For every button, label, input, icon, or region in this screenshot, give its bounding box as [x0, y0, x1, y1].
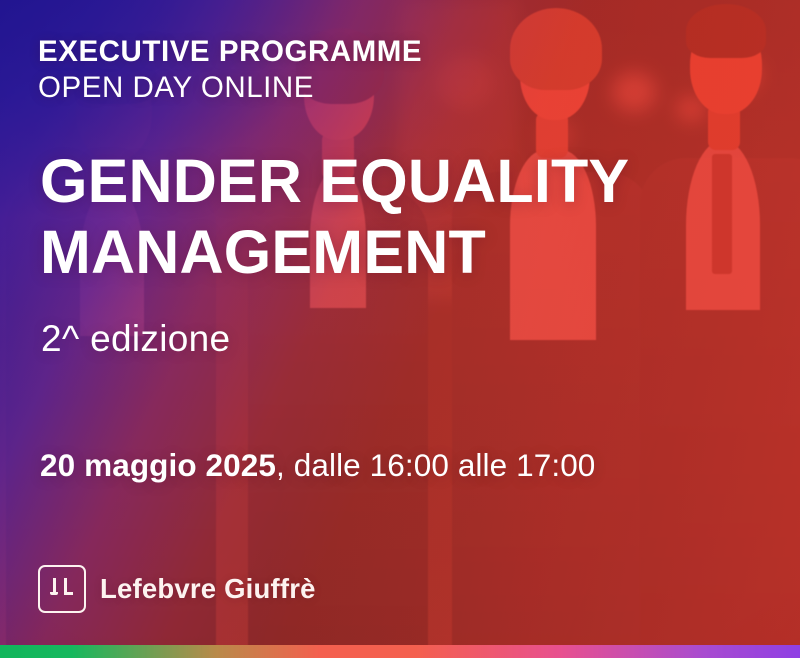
brand-name: Lefebvre Giuffrè [100, 573, 316, 605]
accent-gradient-bar [0, 645, 800, 658]
eyebrow-text: EXECUTIVE PROGRAMME OPEN DAY ONLINE [38, 36, 422, 104]
banner-content: EXECUTIVE PROGRAMME OPEN DAY ONLINE GEND… [0, 0, 800, 658]
edition-subtitle: 2^ edizione [41, 318, 230, 360]
jl-monogram-icon [38, 565, 86, 613]
event-promo-banner: EXECUTIVE PROGRAMME OPEN DAY ONLINE GEND… [0, 0, 800, 658]
page-title: GENDER EQUALITY MANAGEMENT [40, 146, 629, 288]
open-day-label: OPEN DAY ONLINE [38, 72, 422, 103]
event-datetime: 20 maggio 2025, dalle 16:00 alle 17:00 [40, 447, 595, 484]
programme-label: EXECUTIVE PROGRAMME [38, 36, 422, 67]
headline-line-2: MANAGEMENT [40, 217, 629, 288]
headline-line-1: GENDER EQUALITY [40, 146, 629, 217]
monogram-j-foot [50, 592, 58, 595]
brand-logo: Lefebvre Giuffrè [38, 565, 316, 613]
event-time: , dalle 16:00 alle 17:00 [276, 447, 595, 483]
monogram-l-foot [64, 592, 73, 595]
event-date: 20 maggio 2025 [40, 447, 276, 483]
